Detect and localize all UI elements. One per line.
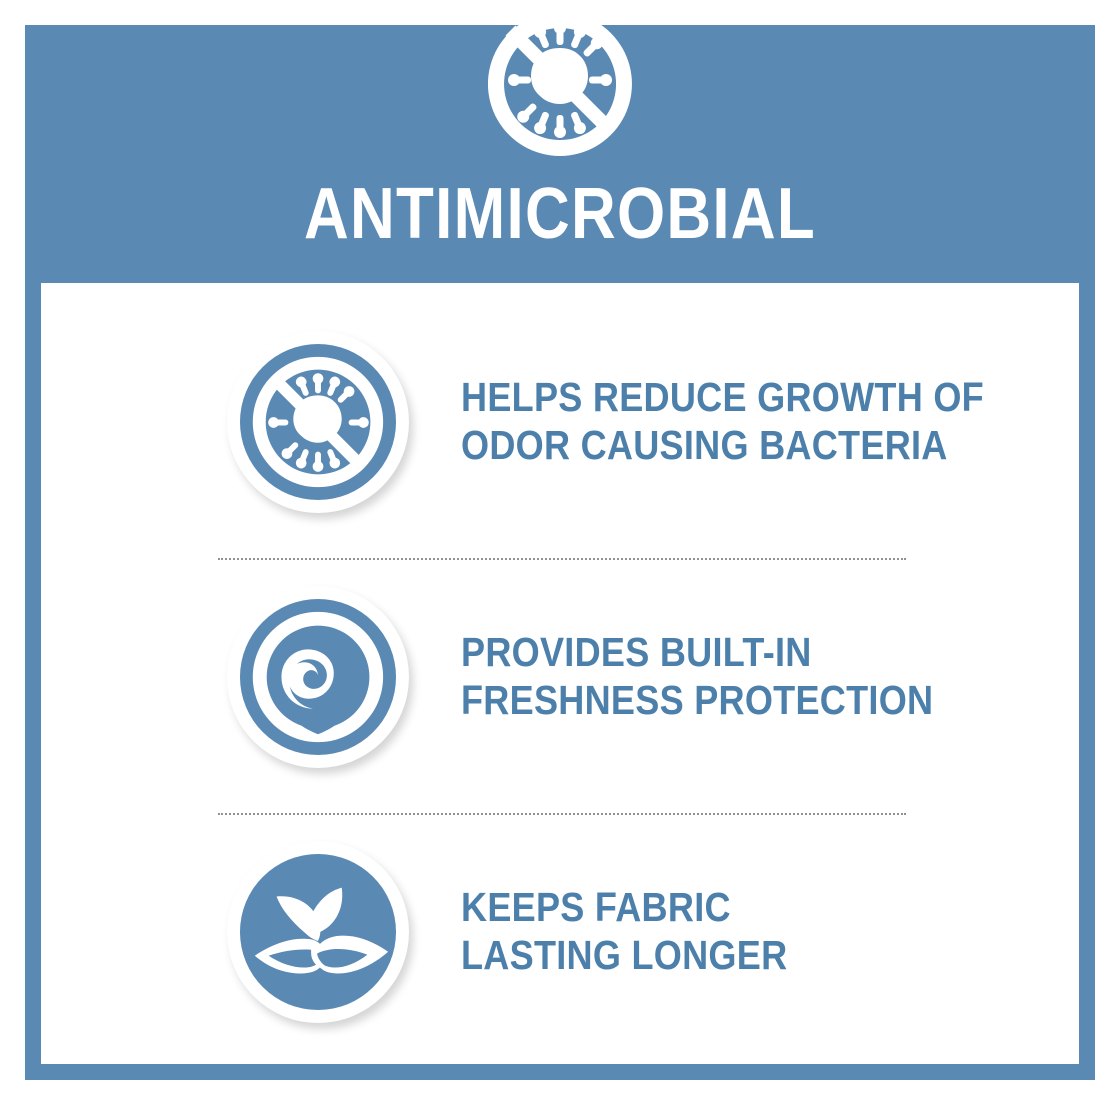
feature-label-line1: HELPS REDUCE GROWTH OF (461, 374, 984, 422)
list-item: PROVIDES BUILT-IN FRESHNESS PROTECTION (41, 573, 1079, 781)
antimicrobial-infographic: ANTIMICROBIAL (0, 0, 1120, 1120)
leaf-fabric-icon (227, 841, 409, 1023)
divider-2 (218, 813, 906, 815)
feature-label-line1: KEEPS FABRIC (461, 884, 787, 932)
shield-swirl-icon (227, 586, 409, 768)
feature-label-line2: LASTING LONGER (461, 932, 787, 980)
feature-list: HELPS REDUCE GROWTH OF ODOR CAUSING BACT… (41, 283, 1079, 1064)
divider-1 (218, 558, 906, 560)
no-virus-icon (488, 2, 632, 166)
feature-label-line1: PROVIDES BUILT-IN (461, 629, 933, 677)
feature-label: KEEPS FABRIC LASTING LONGER (461, 884, 787, 979)
list-item: KEEPS FABRIC LASTING LONGER (41, 828, 1079, 1036)
feature-label-line2: FRESHNESS PROTECTION (461, 677, 933, 725)
feature-label: HELPS REDUCE GROWTH OF ODOR CAUSING BACT… (461, 374, 984, 469)
page-title: ANTIMICROBIAL (78, 178, 1041, 250)
no-virus-circle-icon (227, 331, 409, 513)
list-item: HELPS REDUCE GROWTH OF ODOR CAUSING BACT… (41, 318, 1079, 526)
feature-label-line2: ODOR CAUSING BACTERIA (461, 422, 984, 470)
feature-label: PROVIDES BUILT-IN FRESHNESS PROTECTION (461, 629, 933, 724)
